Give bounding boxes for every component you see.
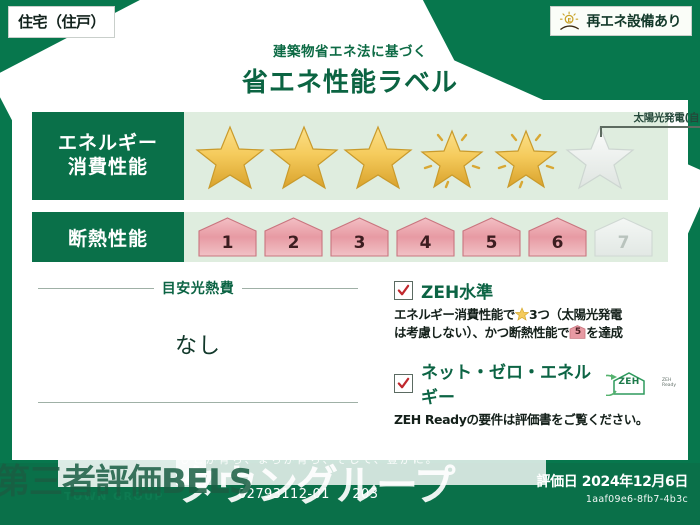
renewable-equipment-badge: E 再エネ設備あり xyxy=(550,6,693,36)
star-rating xyxy=(194,121,636,191)
energy-performance-label: エネルギー 消費性能 xyxy=(32,112,184,200)
rule-left xyxy=(38,288,154,289)
solar-generation-label: 太陽光発電(自家消費)分 xyxy=(584,110,700,125)
insulation-performance-row: 断熱性能 1 2 xyxy=(32,212,668,262)
utility-cost-header: 目安光熱費 xyxy=(38,278,358,298)
checkbox-checked-icon-2 xyxy=(394,374,413,393)
star-icon-inline xyxy=(515,307,529,321)
zeh-ready-line2: Ready xyxy=(662,383,676,388)
net-zero-energy-header: ネット・ゼロ・エネルギー ZEH ZEH Ready xyxy=(394,358,676,408)
energy-label-line2: 消費性能 xyxy=(68,156,148,180)
star-icon-filled-4-solar xyxy=(416,121,488,191)
insulation-level-7-value: 7 xyxy=(618,233,630,258)
energy-label-line1: エネルギー xyxy=(58,132,158,156)
insulation-level-3-value: 3 xyxy=(354,233,366,258)
footer-evaluation-block: 評価日 2024年12月6日 1aaf09e6-8fb7-4b3c xyxy=(537,471,688,505)
zeh-logo-text: ZEH xyxy=(606,377,652,387)
zeh-standard-title: ZEH水準 xyxy=(421,278,493,303)
insulation-levels-panel: 1 2 3 4 5 xyxy=(184,212,668,262)
solar-bracket xyxy=(600,126,700,137)
energy-stars-panel: 太陽光発電(自家消費)分 xyxy=(184,112,668,200)
zeh-desc-line2-part1: は考慮しない）、かつ断熱性能で xyxy=(394,325,569,340)
insulation-level-6-value: 6 xyxy=(552,233,564,258)
utility-cost-bottom-rule xyxy=(38,402,358,403)
net-zero-energy-item: ネット・ゼロ・エネルギー ZEH ZEH Ready ZEH R xyxy=(394,358,676,429)
zeh-desc-part1: エネルギー消費性能で xyxy=(394,307,515,322)
net-zero-energy-description: ZEH Readyの要件は評価書をご覧ください。 xyxy=(394,411,676,429)
star-icon-filled-2 xyxy=(268,121,340,191)
insulation-level-6: 6 xyxy=(526,216,589,258)
star-icon-filled-3 xyxy=(342,121,414,191)
solar-generation-annotation: 太陽光発電(自家消費)分 xyxy=(584,110,700,137)
evaluation-date: 評価日 2024年12月6日 xyxy=(537,471,688,491)
house-type-badge: 住宅（住戸） xyxy=(8,6,115,38)
third-party-evaluation-label: 第三者評価BELS xyxy=(0,454,252,503)
star-icon-filled-5-solar xyxy=(490,121,562,191)
energy-performance-row: エネルギー 消費性能 太陽光発電(自家消費)分 xyxy=(32,112,668,200)
insulation-level-2-value: 2 xyxy=(288,233,300,258)
renewable-equipment-label: 再エネ設備あり xyxy=(587,11,682,31)
zeh-desc-line2-part2: を達成 xyxy=(586,325,622,340)
zeh-desc-part2: 3つ（太陽光発電 xyxy=(529,307,622,322)
insulation-performance-label: 断熱性能 xyxy=(32,212,184,262)
insulation-level-4-value: 4 xyxy=(420,233,432,258)
insulation-level-5-value: 5 xyxy=(486,233,498,258)
rule-right xyxy=(242,288,358,289)
zeh-ready-sublabel: ZEH Ready xyxy=(662,378,676,388)
insulation-level-7: 7 xyxy=(592,216,655,258)
utility-cost-value: なし xyxy=(38,328,358,360)
evaluation-id: 1aaf09e6-8fb7-4b3c xyxy=(537,494,688,505)
insulation-level-3: 3 xyxy=(328,216,391,258)
insulation-level-2: 2 xyxy=(262,216,325,258)
house-level-icon-inline: 5 xyxy=(569,325,586,339)
house-level-icon-value: 5 xyxy=(569,326,586,339)
insulation-level-scale: 1 2 3 4 5 xyxy=(196,216,655,258)
insulation-level-1-value: 1 xyxy=(222,233,234,258)
star-icon-filled-1 xyxy=(194,121,266,191)
zeh-logo-icon: ZEH xyxy=(606,371,652,396)
label-card: エネルギー 消費性能 太陽光発電(自家消費)分 xyxy=(12,100,688,460)
net-zero-energy-title: ネット・ゼロ・エネルギー xyxy=(421,358,594,408)
zeh-block: ZEH水準 エネルギー消費性能で3つ（太陽光発電 は考慮しない）、かつ断熱性能で… xyxy=(394,278,676,429)
sun-icon: E xyxy=(559,11,581,31)
insulation-level-4: 4 xyxy=(394,216,457,258)
insulation-level-5: 5 xyxy=(460,216,523,258)
insulation-level-1: 1 xyxy=(196,216,259,258)
footer-code-block: 02793112-01 203 xyxy=(238,487,378,502)
footer-unit-number: 203 xyxy=(352,487,378,502)
zeh-standard-header: ZEH水準 xyxy=(394,278,676,303)
energy-label-poster: 住宅（住戸） E 再エネ設備あり 建築物省エネ法に基づく 省エネ性能ラベル xyxy=(0,0,700,525)
checkbox-checked-icon xyxy=(394,281,413,300)
utility-cost-title: 目安光熱費 xyxy=(162,278,235,298)
zeh-standard-description: エネルギー消費性能で3つ（太陽光発電 は考慮しない）、かつ断熱性能で5を達成 xyxy=(394,306,676,342)
zeh-standard-item: ZEH水準 エネルギー消費性能で3つ（太陽光発電 は考慮しない）、かつ断熱性能で… xyxy=(394,278,676,342)
utility-cost-block: 目安光熱費 なし xyxy=(38,278,358,403)
